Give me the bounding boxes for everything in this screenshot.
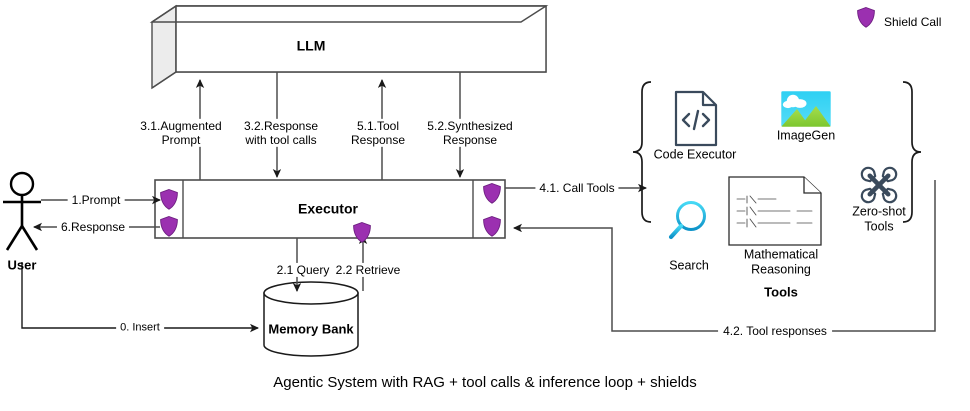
shield-icon[interactable] <box>354 223 371 243</box>
shield-icon <box>858 8 875 28</box>
edge-insert <box>22 262 258 328</box>
magnifier-icon[interactable] <box>671 203 705 238</box>
edge-label-insert: 0. Insert <box>116 322 164 335</box>
tools-group-label: Tools <box>764 284 798 299</box>
tool-label-zero-shot-tools: Zero-shot Tools <box>852 204 906 234</box>
figure-caption: Agentic System with RAG + tool calls & i… <box>0 374 970 391</box>
executor-label: Executor <box>298 201 358 218</box>
edge-label-call-tools: 4.1. Call Tools <box>535 181 618 195</box>
edge-label-prompt: 1.Prompt <box>68 193 125 207</box>
tool-label-mathematical-reasoning: Mathematical Reasoning <box>744 247 818 277</box>
edge-label-augmented-prompt: 3.1.Augmented Prompt <box>137 119 224 147</box>
edge-label-synthesized-response: 5.2.Synthesized Response <box>424 119 515 147</box>
llm-node[interactable] <box>152 6 546 88</box>
memory-bank-label: Memory Bank <box>268 321 353 336</box>
diagram-vector-layer <box>0 0 970 411</box>
llm-label: LLM <box>297 38 326 55</box>
edge-label-tool-response: 5.1.Tool Response <box>348 119 408 147</box>
memory-bank-node[interactable] <box>264 282 358 356</box>
formula-document-icon[interactable] <box>729 177 821 245</box>
edge-tool-responses <box>514 180 935 331</box>
crossed-wrenches-icon[interactable] <box>859 165 899 205</box>
image-icon[interactable] <box>781 91 831 127</box>
edge-label-response: 6.Response <box>57 220 129 234</box>
legend-label: Shield Call <box>884 15 941 29</box>
diagram-canvas: LLM Executor Memory Bank User Tools 0. I… <box>0 0 970 411</box>
edge-label-query: 2.1 Query <box>274 263 333 277</box>
edge-label-retrieve: 2.2 Retrieve <box>333 263 404 277</box>
tool-label-code-executor: Code Executor <box>654 148 737 163</box>
user-label: User <box>8 257 37 272</box>
tools-brace-left <box>633 82 651 222</box>
code-document-icon[interactable] <box>676 92 716 145</box>
tool-label-search: Search <box>669 259 709 274</box>
edge-label-response-tool-calls: 3.2.Response with tool calls <box>241 119 321 147</box>
tools-brace-right <box>903 82 921 222</box>
user-actor[interactable] <box>3 173 41 250</box>
edge-label-tool-responses: 4.2. Tool responses <box>718 324 832 338</box>
tool-label-imagegen: ImageGen <box>777 129 835 144</box>
